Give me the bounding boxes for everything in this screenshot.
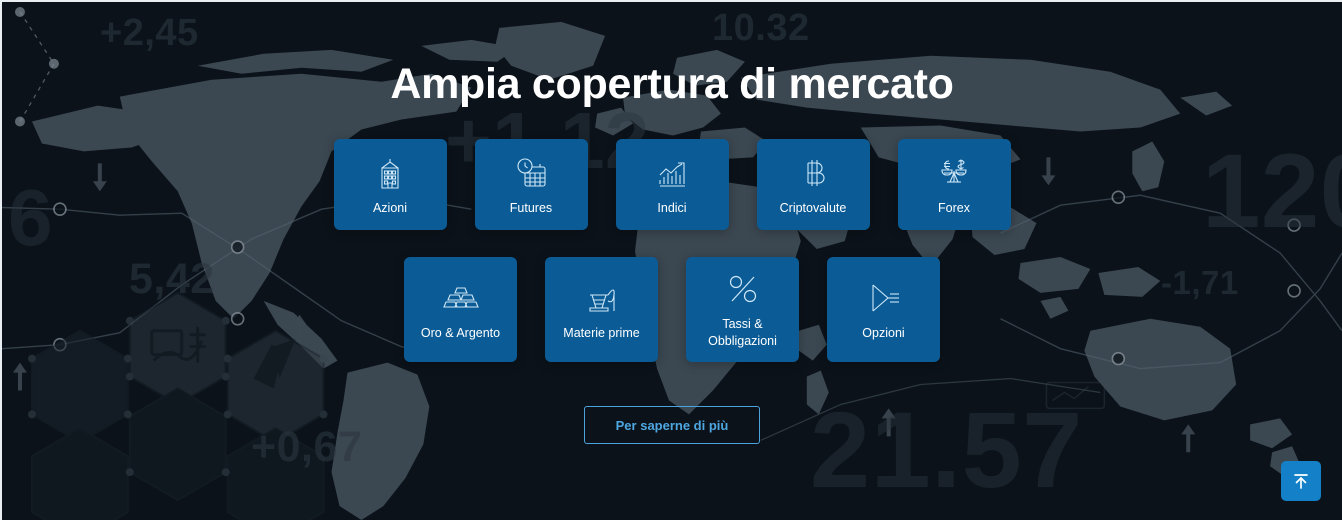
category-card-opzioni[interactable]: Opzioni xyxy=(827,257,940,362)
scroll-to-top-button[interactable] xyxy=(1281,461,1321,501)
category-card-futures[interactable]: Futures xyxy=(475,139,588,230)
category-card-label: Opzioni xyxy=(858,325,908,342)
cta-container: Per saperne di più xyxy=(584,406,760,444)
category-card-indici[interactable]: Indici xyxy=(616,139,729,230)
category-card-label: Oro & Argento xyxy=(417,325,504,342)
category-card-criptovalute[interactable]: Criptovalute xyxy=(757,139,870,230)
category-row-secondary: Oro & Argento Materie prime xyxy=(2,257,1342,362)
options-payoff-icon xyxy=(864,278,904,318)
oil-pump-icon xyxy=(582,278,622,318)
clock-calendar-icon xyxy=(511,153,551,193)
page-title: Ampia copertura di mercato xyxy=(390,60,953,109)
category-card-grid: Azioni Futures xyxy=(2,139,1342,362)
category-card-label: Forex xyxy=(934,200,974,217)
learn-more-button[interactable]: Per saperne di più xyxy=(584,406,760,444)
category-card-azioni[interactable]: Azioni xyxy=(334,139,447,230)
category-card-forex[interactable]: Forex xyxy=(898,139,1011,230)
gold-bars-icon xyxy=(441,278,481,318)
category-card-label: Tassi & Obbligazioni xyxy=(686,316,799,350)
building-icon xyxy=(370,153,410,193)
category-card-label: Azioni xyxy=(369,200,411,217)
currency-scale-icon xyxy=(934,153,974,193)
category-card-tassi-obbligazioni[interactable]: Tassi & Obbligazioni xyxy=(686,257,799,362)
market-coverage-section: +2,45 10.32 +1.12 120. 6 5,42 -1,71 +0,6… xyxy=(0,0,1342,520)
category-card-materie-prime[interactable]: Materie prime xyxy=(545,257,658,362)
arrow-up-to-line-icon xyxy=(1291,471,1311,491)
section-content: Ampia copertura di mercato xyxy=(2,2,1342,520)
category-card-label: Futures xyxy=(506,200,556,217)
category-card-oro-argento[interactable]: Oro & Argento xyxy=(404,257,517,362)
category-card-label: Indici xyxy=(653,200,690,217)
category-card-label: Criptovalute xyxy=(776,200,851,217)
category-card-label: Materie prime xyxy=(559,325,643,342)
bitcoin-icon xyxy=(793,153,833,193)
category-row-primary: Azioni Futures xyxy=(2,139,1342,230)
bar-chart-trend-icon xyxy=(652,153,692,193)
percent-icon xyxy=(723,269,763,309)
